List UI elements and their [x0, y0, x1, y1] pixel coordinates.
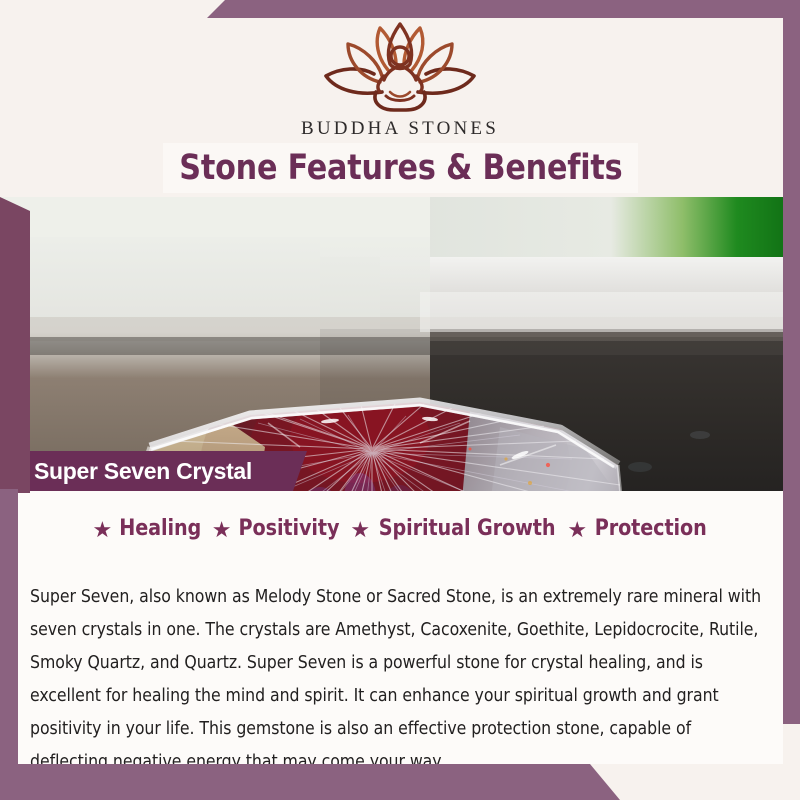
stone-name: Super Seven Crystal [17, 458, 252, 485]
benefit-label: Protection [595, 516, 707, 541]
stone-name-banner: Super Seven Crystal [17, 451, 307, 491]
benefit-item-healing: ★ Healing [93, 516, 203, 541]
benefit-label: Healing [120, 516, 202, 541]
description-text: Super Seven, also known as Melody Stone … [30, 581, 770, 779]
benefit-label: Spiritual Growth [379, 516, 556, 541]
benefit-item-spiritual-growth: ★ Spiritual Growth [350, 516, 558, 541]
star-icon: ★ [212, 519, 232, 541]
frame-left-bar-light [0, 489, 18, 800]
title-band: Stone Features & Benefits [163, 143, 638, 193]
benefit-item-positivity: ★ Positivity [212, 516, 342, 541]
brand-name: BUDDHA STONES [0, 118, 800, 140]
infographic-page: BUDDHA STONES Stone Features & Benefits [0, 0, 800, 800]
frame-left-bar-dark [0, 197, 30, 493]
benefit-item-protection: ★ Protection [567, 516, 708, 541]
content-section: ★ Healing ★ Positivity ★ Spiritual Growt… [18, 491, 783, 764]
lotus-meditation-icon [310, 18, 490, 116]
frame-right-bar [783, 0, 800, 724]
star-icon: ★ [93, 519, 113, 541]
page-title: Stone Features & Benefits [179, 148, 622, 188]
brand-logo: BUDDHA STONES [0, 18, 800, 140]
benefits-row: ★ Healing ★ Positivity ★ Spiritual Growt… [18, 516, 783, 541]
star-icon: ★ [350, 519, 370, 541]
star-icon: ★ [567, 519, 587, 541]
benefit-label: Positivity [239, 516, 340, 541]
